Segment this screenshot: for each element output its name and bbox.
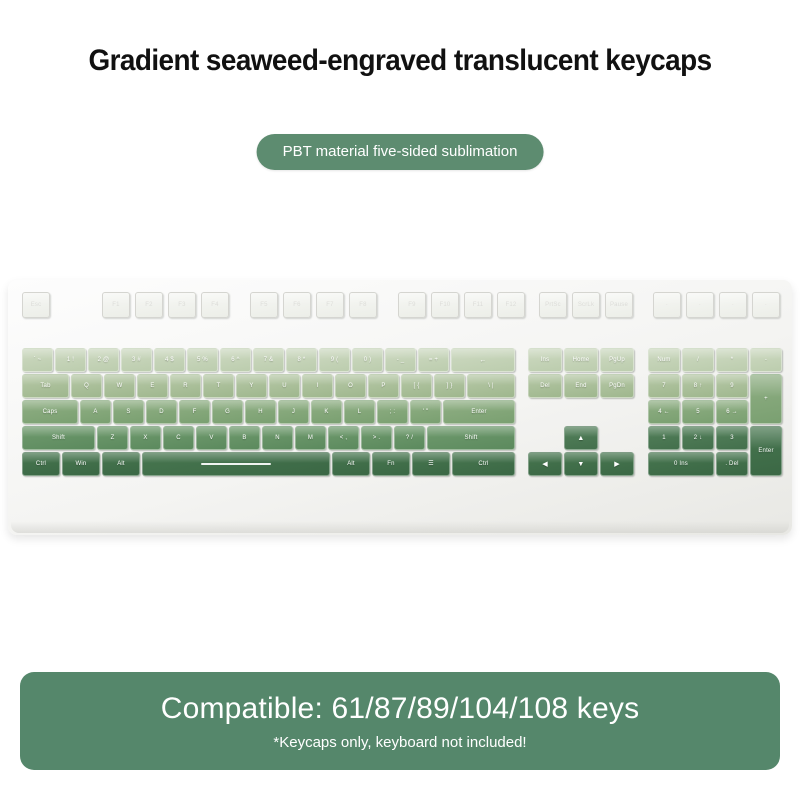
material-badge: PBT material five-sided sublimation	[257, 134, 544, 170]
disclaimer-text: *Keycaps only, keyboard not included!	[273, 734, 526, 751]
key-z: Z	[97, 426, 128, 450]
key-s: S	[113, 400, 144, 424]
key-m: M	[295, 426, 326, 450]
key-h: H	[245, 400, 276, 424]
key-printscreen: PrtSc	[539, 292, 567, 318]
key-semicolon: ; :	[377, 400, 408, 424]
key-numpad-9: 9	[716, 374, 748, 398]
key-bracket-right: ] }	[434, 374, 465, 398]
key-a: A	[80, 400, 111, 424]
key-v: V	[196, 426, 227, 450]
key-b: B	[229, 426, 260, 450]
key-equal: = +	[418, 348, 449, 372]
key-f10: F10	[431, 292, 459, 318]
key-d: D	[146, 400, 177, 424]
page-title: Gradient seaweed-engraved translucent ke…	[28, 44, 772, 78]
key-alt-left: Alt	[102, 452, 140, 476]
key-0: 0 )	[352, 348, 383, 372]
key-blank-3: ·	[719, 292, 747, 318]
key-delete: Del	[528, 374, 562, 398]
key-f: F	[179, 400, 210, 424]
key-f8: F8	[349, 292, 377, 318]
key-numlock: Num	[648, 348, 680, 372]
key-t: T	[203, 374, 234, 398]
key-4: 4 $	[154, 348, 185, 372]
key-scrolllock: ScrLk	[572, 292, 600, 318]
key-2: 2 @	[88, 348, 119, 372]
key-grave: ` ~	[22, 348, 53, 372]
key-7: 7 &	[253, 348, 284, 372]
key-arrow-left: ◀	[528, 452, 562, 476]
key-numpad-period: . Del	[716, 452, 748, 476]
key-numpad-5: 5	[682, 400, 714, 424]
key-shift-left: Shift	[22, 426, 95, 450]
product-image: Gradient seaweed-engraved translucent ke…	[0, 0, 800, 800]
key-enter: Enter	[443, 400, 515, 424]
key-pagedown: PgDn	[600, 374, 634, 398]
key-space	[142, 452, 330, 476]
key-blank-4: ·	[752, 292, 780, 318]
key-k: K	[311, 400, 342, 424]
key-f2: F2	[135, 292, 163, 318]
key-numpad-divide: /	[682, 348, 714, 372]
key-win-left: Win	[62, 452, 100, 476]
key-home: Home	[564, 348, 598, 372]
key-i: I	[302, 374, 333, 398]
key-alt-right: Alt	[332, 452, 370, 476]
key-backslash: \ |	[467, 374, 515, 398]
key-p: P	[368, 374, 399, 398]
keyboard-image: Esc F1 F2 F3 F4 F5 F6 F7 F8 F9 F10 F11 F…	[8, 280, 792, 535]
key-f6: F6	[283, 292, 311, 318]
key-insert: Ins	[528, 348, 562, 372]
key-f1: F1	[102, 292, 130, 318]
key-tab: Tab	[22, 374, 69, 398]
key-arrow-right: ▶	[600, 452, 634, 476]
key-w: W	[104, 374, 135, 398]
key-u: U	[269, 374, 300, 398]
key-comma: < ,	[328, 426, 359, 450]
key-minus: - _	[385, 348, 416, 372]
key-capslock: Caps	[22, 400, 78, 424]
key-numpad-2: 2 ↓	[682, 426, 714, 450]
key-3: 3 #	[121, 348, 152, 372]
key-ctrl-left: Ctrl	[22, 452, 60, 476]
key-pageup: PgUp	[600, 348, 634, 372]
key-menu: ☰	[412, 452, 450, 476]
key-r: R	[170, 374, 201, 398]
key-bracket-left: [ {	[401, 374, 432, 398]
key-x: X	[130, 426, 161, 450]
key-ctrl-right: Ctrl	[452, 452, 515, 476]
key-shift-right: Shift	[427, 426, 515, 450]
key-pause: Pause	[605, 292, 633, 318]
key-numpad-8: 8 ↑	[682, 374, 714, 398]
key-quote: ' "	[410, 400, 441, 424]
key-numpad-6: 6 →	[716, 400, 748, 424]
key-5: 5 %	[187, 348, 218, 372]
key-f3: F3	[168, 292, 196, 318]
compatibility-text: Compatible: 61/87/89/104/108 keys	[161, 692, 640, 726]
key-slash: ? /	[394, 426, 425, 450]
key-f11: F11	[464, 292, 492, 318]
compatibility-banner: Compatible: 61/87/89/104/108 keys *Keyca…	[20, 672, 780, 770]
key-backspace: ←	[451, 348, 515, 372]
key-1: 1 !	[55, 348, 86, 372]
key-9: 9 (	[319, 348, 350, 372]
key-numpad-3: 3	[716, 426, 748, 450]
key-j: J	[278, 400, 309, 424]
key-f9: F9	[398, 292, 426, 318]
key-f7: F7	[316, 292, 344, 318]
key-y: Y	[236, 374, 267, 398]
key-numpad-plus: +	[750, 374, 782, 424]
key-numpad-4: 4 ←	[648, 400, 680, 424]
key-numpad-minus: -	[750, 348, 782, 372]
key-6: 6 ^	[220, 348, 251, 372]
key-blank-2: ·	[686, 292, 714, 318]
key-c: C	[163, 426, 194, 450]
key-e: E	[137, 374, 168, 398]
key-numpad-multiply: *	[716, 348, 748, 372]
key-f5: F5	[250, 292, 278, 318]
key-arrow-down: ▼	[564, 452, 598, 476]
key-f12: F12	[497, 292, 525, 318]
key-blank-1: ·	[653, 292, 681, 318]
key-period: > .	[361, 426, 392, 450]
key-n: N	[262, 426, 293, 450]
key-numpad-1: 1	[648, 426, 680, 450]
key-o: O	[335, 374, 366, 398]
key-fn: Fn	[372, 452, 410, 476]
key-l: L	[344, 400, 375, 424]
key-esc: Esc	[22, 292, 50, 318]
keyboard-plate: Esc F1 F2 F3 F4 F5 F6 F7 F8 F9 F10 F11 F…	[18, 288, 782, 526]
key-8: 8 *	[286, 348, 317, 372]
key-end: End	[564, 374, 598, 398]
key-g: G	[212, 400, 243, 424]
key-f4: F4	[201, 292, 229, 318]
key-q: Q	[71, 374, 102, 398]
key-numpad-7: 7	[648, 374, 680, 398]
key-numpad-0: 0 Ins	[648, 452, 714, 476]
key-arrow-up: ▲	[564, 426, 598, 450]
key-numpad-enter: Enter	[750, 426, 782, 476]
